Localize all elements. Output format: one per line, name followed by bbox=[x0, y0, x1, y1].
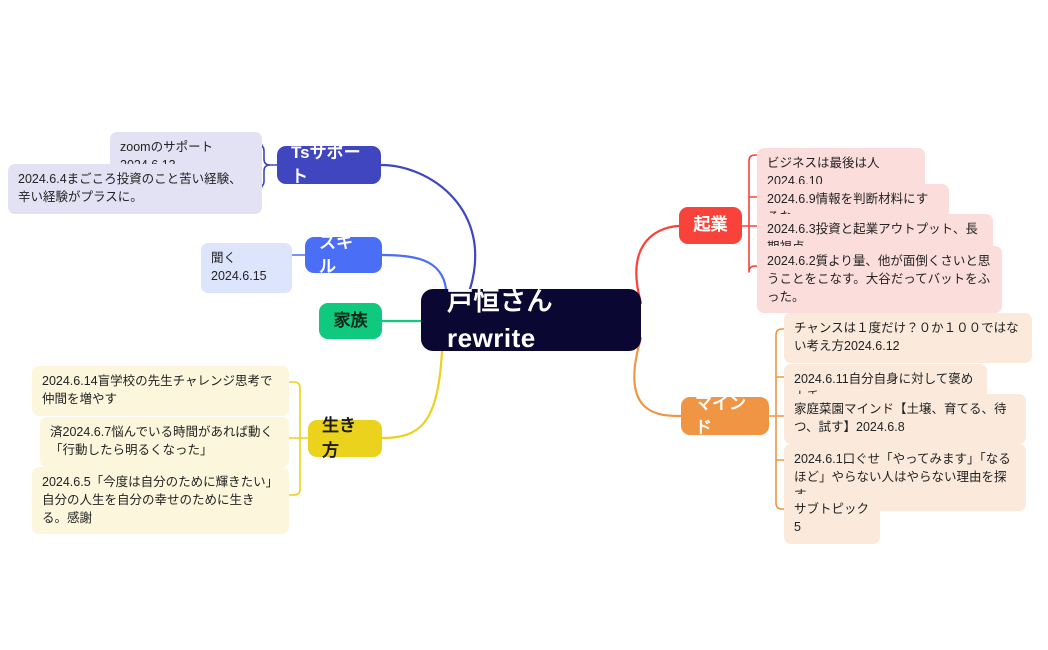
trunk-entrepreneurship bbox=[742, 155, 757, 272]
leaf-node-mindset-1[interactable]: チャンスは１度だけ？０か１００ではない考え方2024.6.12 bbox=[784, 313, 1032, 363]
edge-mindset bbox=[634, 338, 681, 416]
edge-skill bbox=[382, 255, 446, 289]
branch-node-entrepreneurship[interactable]: 起業 bbox=[679, 207, 742, 244]
branch-node-skill[interactable]: スキル bbox=[305, 237, 382, 273]
leaf-node-lifestyle-3[interactable]: 2024.6.5「今度は自分のために輝きたい」自分の人生を自分の幸せのために生き… bbox=[32, 467, 289, 534]
trunk-lifestyle bbox=[289, 382, 308, 495]
leaf-node-skill-1[interactable]: 聞く2024.6.15 bbox=[201, 243, 292, 293]
trunk-mindset bbox=[769, 329, 784, 509]
leaf-node-mindset-3[interactable]: 家庭菜園マインド【土壌、育てる、待つ、試す】2024.6.8 bbox=[784, 394, 1026, 444]
edge-ts-support bbox=[381, 165, 475, 289]
leaf-node-lifestyle-2[interactable]: 済2024.6.7悩んでいる時間があれば動く「行動したら明るくなった」 bbox=[40, 417, 289, 467]
leaf-node-ts-support-2[interactable]: 2024.6.4まごころ投資のこと苦い経験、辛い経験がプラスに。 bbox=[8, 164, 262, 214]
leaf-node-lifestyle-1[interactable]: 2024.6.14盲学校の先生チャレンジ思考で仲間を増やす bbox=[32, 366, 289, 416]
branch-node-ts-support[interactable]: Tsサポート bbox=[277, 146, 381, 184]
leaf-node-entrepreneurship-4[interactable]: 2024.6.2質より量、他が面倒くさいと思うことをこなす。大谷だってバットをふ… bbox=[757, 246, 1002, 313]
branch-node-mindset[interactable]: マインド bbox=[681, 397, 769, 435]
branch-node-lifestyle[interactable]: 生き方 bbox=[308, 420, 382, 457]
edge-entrepreneurship bbox=[636, 226, 679, 303]
edge-lifestyle bbox=[382, 351, 442, 438]
branch-node-family[interactable]: 家族 bbox=[319, 303, 382, 339]
root-node[interactable]: 戸恒さんrewrite bbox=[421, 289, 641, 351]
mindmap-canvas[interactable]: 戸恒さんrewriteTsサポートzoomのサポート2024.6.132024.… bbox=[0, 0, 1048, 650]
leaf-node-mindset-5[interactable]: サブトピック 5 bbox=[784, 494, 880, 544]
